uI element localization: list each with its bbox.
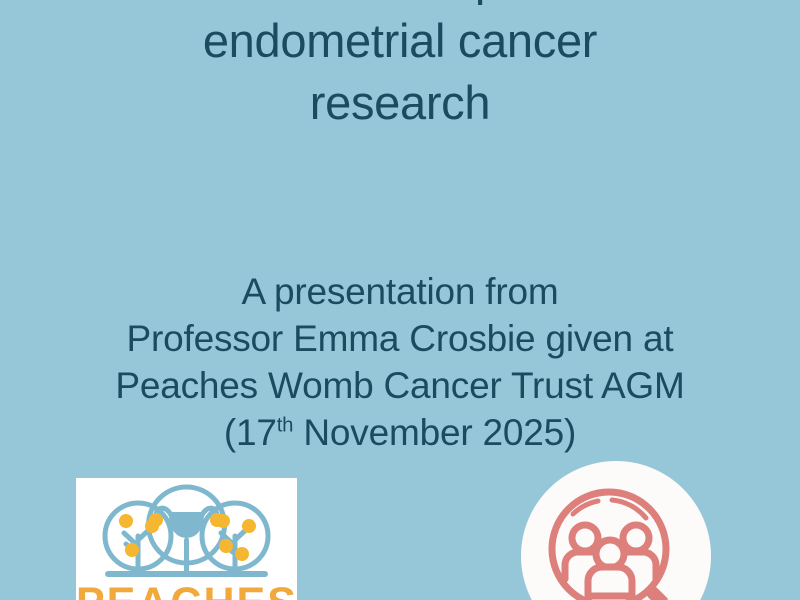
subtitle-line-1: A presentation from (0, 268, 800, 315)
subtitle-line-3: Peaches Womb Cancer Trust AGM (0, 362, 800, 409)
date-suffix: November 2025) (293, 412, 576, 453)
title-line-2: endometrial cancer (0, 10, 800, 72)
subtitle-line-4: (17th November 2025) (0, 409, 800, 456)
page-title: The landscape of endometrial cancer rese… (0, 0, 800, 134)
date-ordinal-suffix: th (277, 415, 294, 437)
presentation-slide: The landscape of endometrial cancer rese… (0, 0, 800, 600)
magnifier-people-icon (520, 460, 712, 600)
subtitle-line-2: Professor Emma Crosbie given at (0, 315, 800, 362)
person-centre-body (588, 567, 632, 596)
peaches-logo: PEACHES (76, 478, 297, 600)
date-prefix: (17 (224, 412, 277, 453)
research-badge (520, 460, 712, 600)
peaches-wordmark: PEACHES (76, 582, 297, 600)
title-line-1: The landscape of (0, 0, 800, 10)
title-line-3: research (0, 72, 800, 134)
subtitle: A presentation from Professor Emma Crosb… (0, 268, 800, 456)
